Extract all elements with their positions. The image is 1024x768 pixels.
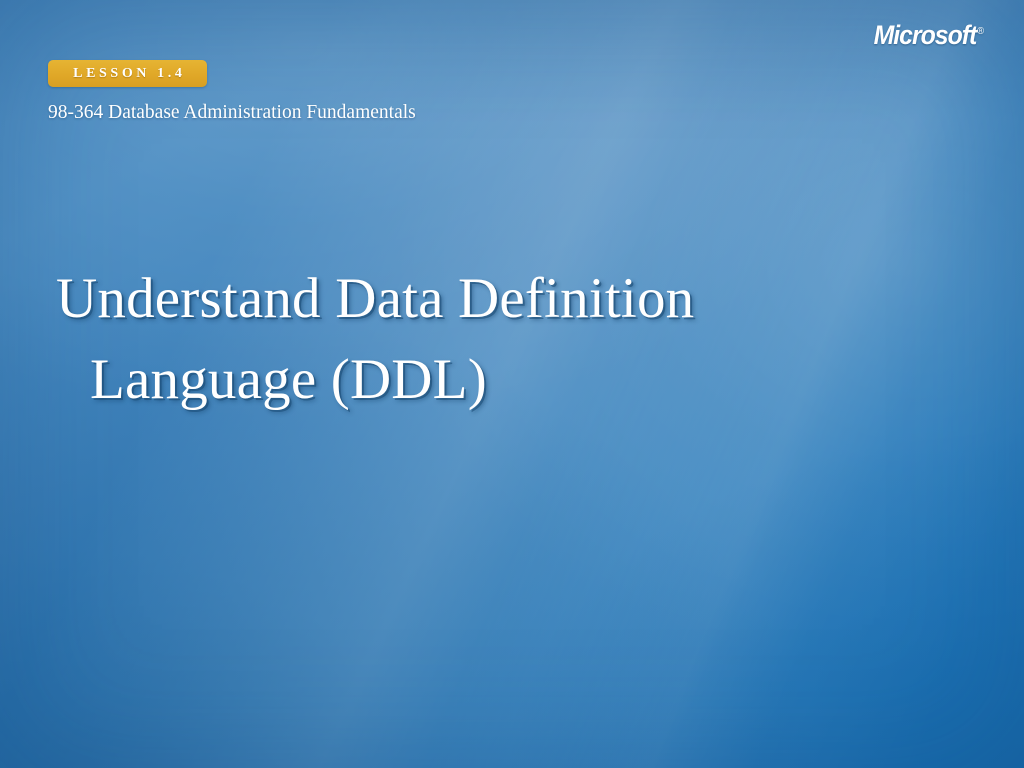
lesson-badge: LESSON 1.4: [48, 60, 207, 87]
lesson-badge-label: LESSON 1.4: [70, 66, 186, 82]
title-block: Understand Data Definition Language (DDL…: [56, 258, 756, 420]
registered-trademark-icon: ®: [977, 26, 984, 37]
page-title: Understand Data Definition Language (DDL…: [56, 258, 756, 420]
course-subtitle: 98-364 Database Administration Fundament…: [48, 101, 416, 124]
title-slide: Microsoft® LESSON 1.4 98-364 Database Ad…: [0, 0, 1024, 768]
microsoft-logo: Microsoft®: [874, 22, 984, 49]
microsoft-logo-text: Microsoft: [874, 20, 977, 50]
